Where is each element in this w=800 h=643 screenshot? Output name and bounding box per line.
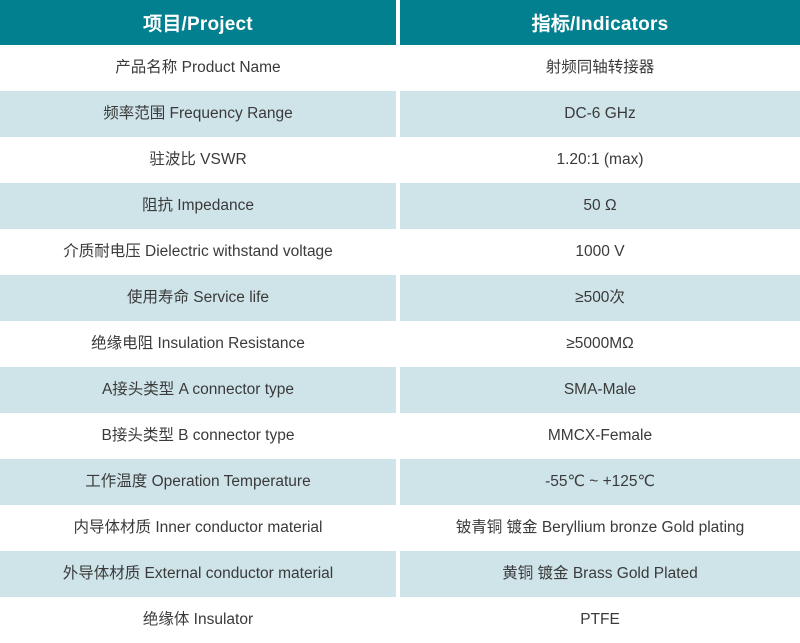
cell-project: 频率范围 Frequency Range [0, 91, 396, 137]
cell-project: 使用寿命 Service life [0, 275, 396, 321]
cell-project: 产品名称 Product Name [0, 45, 396, 91]
cell-indicator: -55℃ ~ +125℃ [400, 459, 800, 505]
table-row: 驻波比 VSWR1.20:1 (max) [0, 137, 800, 183]
cell-indicator: DC-6 GHz [400, 91, 800, 137]
table-row: 绝缘体 InsulatorPTFE [0, 597, 800, 643]
cell-project: A接头类型 A connector type [0, 367, 396, 413]
cell-indicator: 50 Ω [400, 183, 800, 229]
table-row: 工作温度 Operation Temperature-55℃ ~ +125℃ [0, 459, 800, 505]
cell-indicator: 铍青铜 镀金 Beryllium bronze Gold plating [400, 505, 800, 551]
cell-project: 驻波比 VSWR [0, 137, 396, 183]
table-row: 外导体材质 External conductor material黄铜 镀金 B… [0, 551, 800, 597]
cell-project: 阻抗 Impedance [0, 183, 396, 229]
table-row: 内导体材质 Inner conductor material铍青铜 镀金 Ber… [0, 505, 800, 551]
table-row: 使用寿命 Service life≥500次 [0, 275, 800, 321]
cell-indicator: MMCX-Female [400, 413, 800, 459]
cell-indicator: ≥5000MΩ [400, 321, 800, 367]
cell-indicator: SMA-Male [400, 367, 800, 413]
table-row: 频率范围 Frequency RangeDC-6 GHz [0, 91, 800, 137]
table-row: B接头类型 B connector typeMMCX-Female [0, 413, 800, 459]
cell-indicator: PTFE [400, 597, 800, 643]
cell-project: 外导体材质 External conductor material [0, 551, 396, 597]
table-row: A接头类型 A connector typeSMA-Male [0, 367, 800, 413]
column-header-project: 项目/Project [0, 0, 396, 45]
table-row: 介质耐电压 Dielectric withstand voltage1000 V [0, 229, 800, 275]
cell-indicator: 黄铜 镀金 Brass Gold Plated [400, 551, 800, 597]
cell-project: 绝缘电阻 Insulation Resistance [0, 321, 396, 367]
cell-project: 工作温度 Operation Temperature [0, 459, 396, 505]
cell-project: 绝缘体 Insulator [0, 597, 396, 643]
cell-project: 介质耐电压 Dielectric withstand voltage [0, 229, 396, 275]
cell-indicator: 1.20:1 (max) [400, 137, 800, 183]
table-row: 产品名称 Product Name射频同轴转接器 [0, 45, 800, 91]
header-row: 项目/Project 指标/Indicators [0, 0, 800, 45]
cell-project: 内导体材质 Inner conductor material [0, 505, 396, 551]
table-header: 项目/Project 指标/Indicators [0, 0, 800, 45]
table-row: 绝缘电阻 Insulation Resistance≥5000MΩ [0, 321, 800, 367]
cell-project: B接头类型 B connector type [0, 413, 396, 459]
cell-indicator: 1000 V [400, 229, 800, 275]
specification-table: 项目/Project 指标/Indicators 产品名称 Product Na… [0, 0, 800, 643]
cell-indicator: ≥500次 [400, 275, 800, 321]
column-header-indicators: 指标/Indicators [400, 0, 800, 45]
table-row: 阻抗 Impedance50 Ω [0, 183, 800, 229]
table-body: 产品名称 Product Name射频同轴转接器频率范围 Frequency R… [0, 45, 800, 643]
cell-indicator: 射频同轴转接器 [400, 45, 800, 91]
